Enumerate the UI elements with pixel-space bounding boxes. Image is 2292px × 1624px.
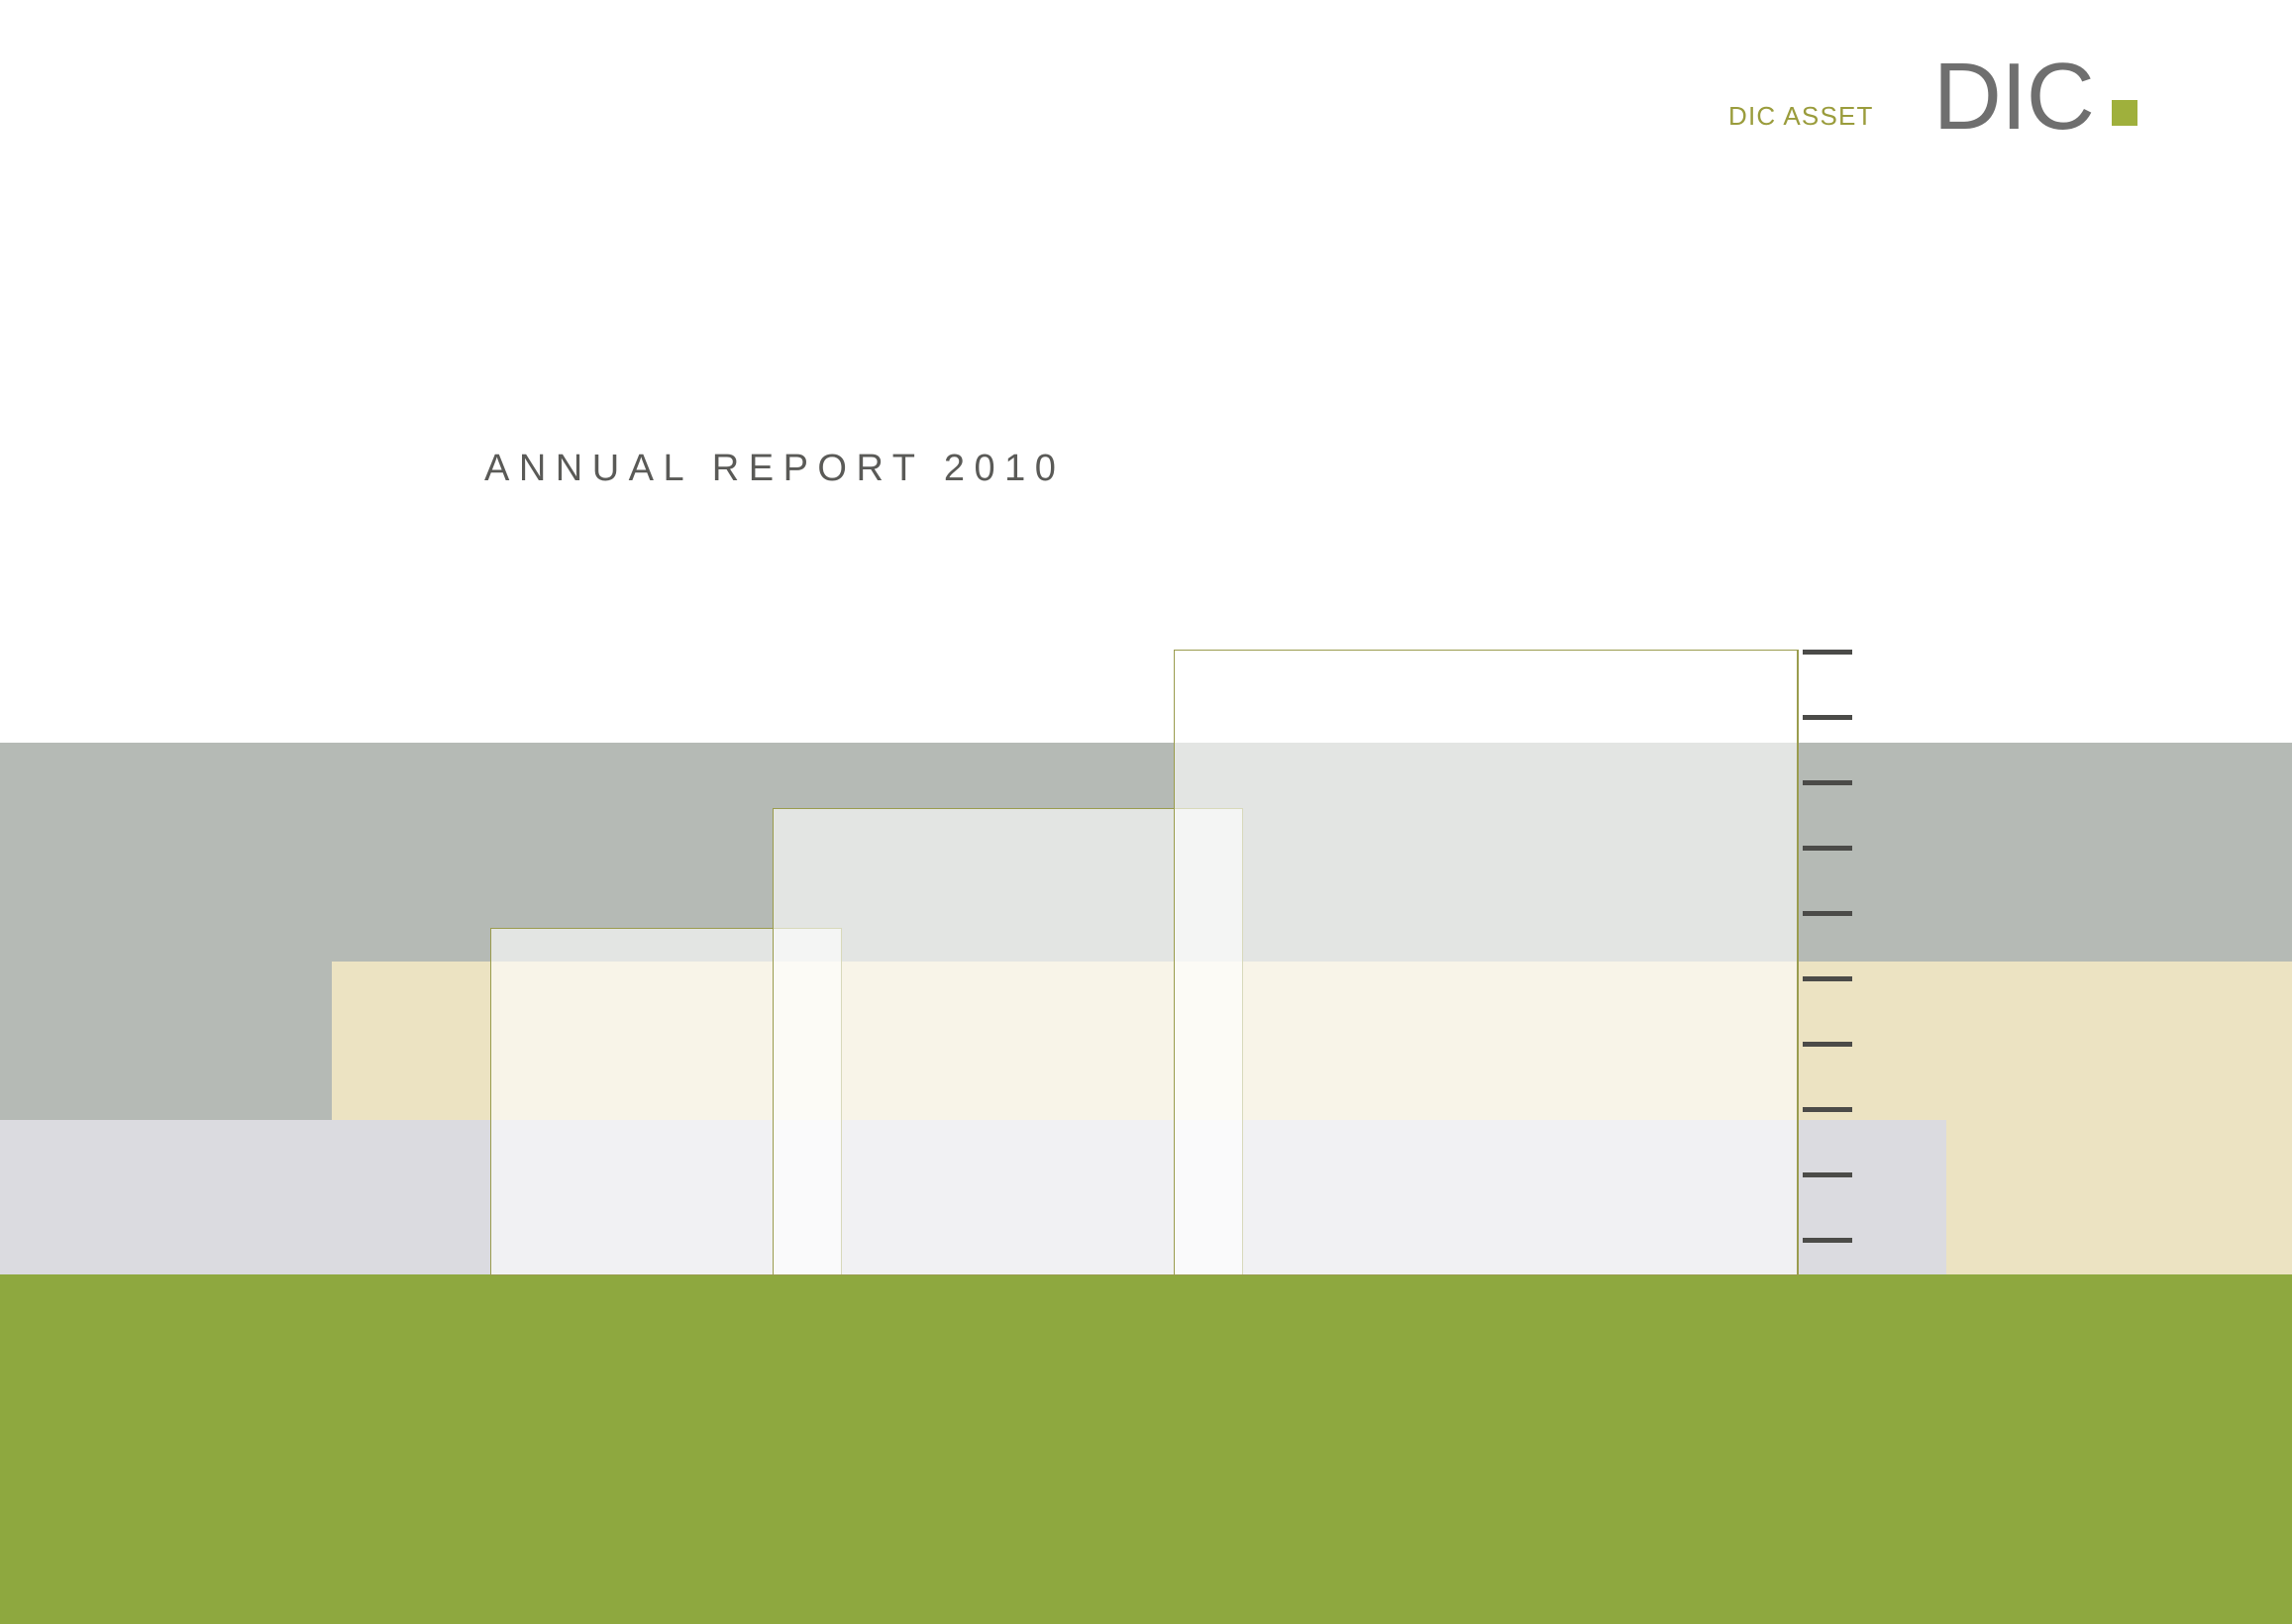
band-green (0, 1274, 2292, 1624)
logo: DIC ASSET DIC (1728, 30, 2137, 139)
chart-tick-2 (1803, 715, 1852, 720)
chart-bar-3 (1174, 650, 1798, 1275)
chart-axis-line (1797, 650, 1799, 1275)
logo-wordmark-group: DIC (1933, 56, 2137, 139)
logo-wordmark: DIC (1933, 56, 2094, 139)
chart-bar-2 (773, 808, 1243, 1275)
chart-tick-1 (1803, 650, 1852, 655)
chart-tick-7 (1803, 1042, 1852, 1047)
page-title: ANNUAL REPORT 2010 (484, 448, 1065, 490)
chart-tick-3 (1803, 780, 1852, 785)
chart-tick-6 (1803, 976, 1852, 981)
chart-tick-5 (1803, 911, 1852, 916)
green-square-icon (2112, 100, 2137, 126)
chart-tick-4 (1803, 846, 1852, 851)
chart-tick-9 (1803, 1172, 1852, 1177)
annual-report-cover: ANNUAL REPORT 2010 DIC ASSET DIC (0, 0, 2292, 1624)
chart-tick-8 (1803, 1107, 1852, 1112)
chart-tick-10 (1803, 1238, 1852, 1243)
logo-subtitle: DIC ASSET (1728, 101, 1874, 139)
